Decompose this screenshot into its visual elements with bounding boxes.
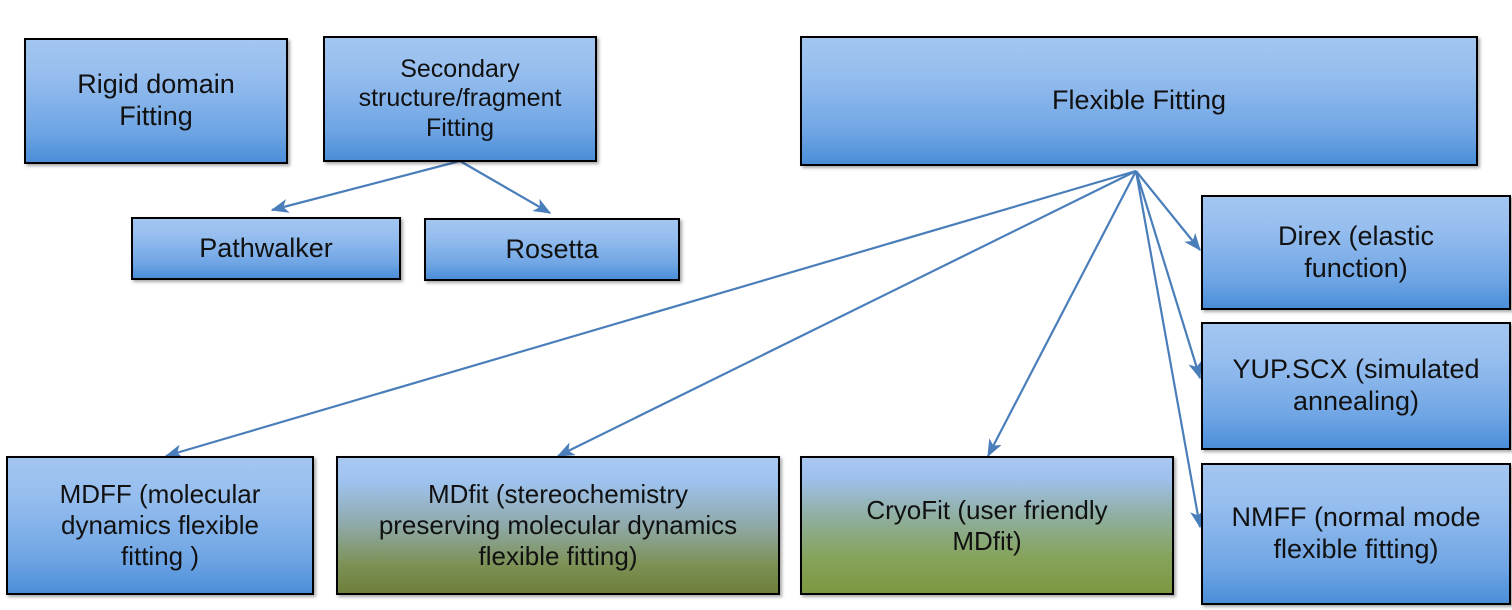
node-yupscx[interactable]: YUP.SCX (simulated annealing) <box>1201 322 1511 450</box>
node-rigid-domain-fitting[interactable]: Rigid domain Fitting <box>24 38 288 164</box>
node-rosetta[interactable]: Rosetta <box>424 218 680 281</box>
edge-secondary-to-rosetta <box>460 161 550 213</box>
node-direx[interactable]: Direx (elastic function) <box>1201 195 1511 310</box>
node-mdfit[interactable]: MDfit (stereochemistry preserving molecu… <box>336 456 780 595</box>
edge-flexible-to-direx <box>1136 171 1200 250</box>
node-label: YUP.SCX (simulated annealing) <box>1226 354 1485 418</box>
node-label: NMFF (normal mode flexible fitting) <box>1225 502 1486 566</box>
edge-flexible-to-mdff <box>166 171 1136 456</box>
node-label: Rigid domain Fitting <box>71 69 241 133</box>
node-label: Pathwalker <box>193 233 339 265</box>
node-label: MDfit (stereochemistry preserving molecu… <box>373 479 743 571</box>
node-label: Direx (elastic function) <box>1272 221 1440 285</box>
node-label: Flexible Fitting <box>1046 85 1232 117</box>
edge-flexible-to-cryofit <box>988 171 1136 456</box>
node-label: Rosetta <box>499 234 604 266</box>
node-pathwalker[interactable]: Pathwalker <box>131 217 401 280</box>
node-label: CryoFit (user friendly MDfit) <box>860 495 1113 556</box>
node-nmff[interactable]: NMFF (normal mode flexible fitting) <box>1201 463 1511 605</box>
node-label: MDFF (molecular dynamics flexible fittin… <box>54 479 267 571</box>
node-flexible-fitting[interactable]: Flexible Fitting <box>800 36 1478 166</box>
edge-flexible-to-mdfit <box>558 171 1136 456</box>
node-mdff[interactable]: MDFF (molecular dynamics flexible fittin… <box>6 456 314 595</box>
node-label: Secondary structure/fragment Fitting <box>353 55 568 144</box>
edge-secondary-to-pathwalker <box>272 161 460 210</box>
diagram-canvas: Rigid domain Fitting Secondary structure… <box>0 0 1512 610</box>
edge-flexible-to-yupscx <box>1136 171 1200 378</box>
node-secondary-structure-fitting[interactable]: Secondary structure/fragment Fitting <box>323 36 597 162</box>
node-cryofit[interactable]: CryoFit (user friendly MDfit) <box>800 456 1174 595</box>
